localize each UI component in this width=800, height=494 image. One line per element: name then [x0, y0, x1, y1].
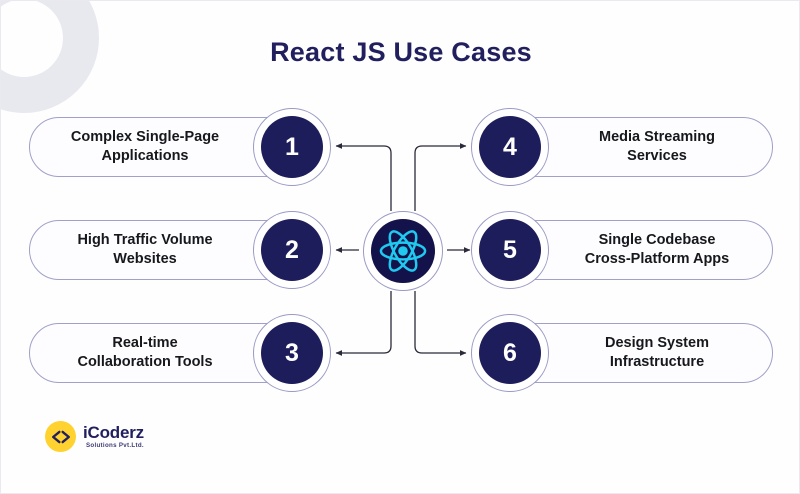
- badge-number-5: 5: [503, 238, 517, 263]
- badge-inner-2: 2: [261, 219, 323, 281]
- badge-number-1: 1: [285, 135, 299, 160]
- badge-inner-5: 5: [479, 219, 541, 281]
- use-case-badge-1[interactable]: 1: [253, 108, 331, 186]
- use-case-badge-3[interactable]: 3: [253, 314, 331, 392]
- badge-inner-1: 1: [261, 116, 323, 178]
- badge-inner-6: 6: [479, 322, 541, 384]
- use-case-badge-6[interactable]: 6: [471, 314, 549, 392]
- badge-number-6: 6: [503, 341, 517, 366]
- badge-number-2: 2: [285, 238, 299, 263]
- use-case-badge-5[interactable]: 5: [471, 211, 549, 289]
- connector-hub-to-1: [336, 146, 391, 211]
- infographic-canvas: React JS Use Cases Complex Single-Page A…: [0, 0, 800, 494]
- center-hub[interactable]: [363, 211, 443, 291]
- connector-hub-to-6: [415, 291, 466, 353]
- badge-inner-3: 3: [261, 322, 323, 384]
- connector-hub-to-3: [336, 291, 391, 353]
- react-logo-icon: [371, 219, 435, 283]
- badge-number-3: 3: [285, 341, 299, 366]
- react-atom-icon: [378, 228, 428, 274]
- badge-number-4: 4: [503, 135, 517, 160]
- use-case-badge-4[interactable]: 4: [471, 108, 549, 186]
- use-case-badge-2[interactable]: 2: [253, 211, 331, 289]
- connector-hub-to-4: [415, 146, 466, 211]
- badge-inner-4: 4: [479, 116, 541, 178]
